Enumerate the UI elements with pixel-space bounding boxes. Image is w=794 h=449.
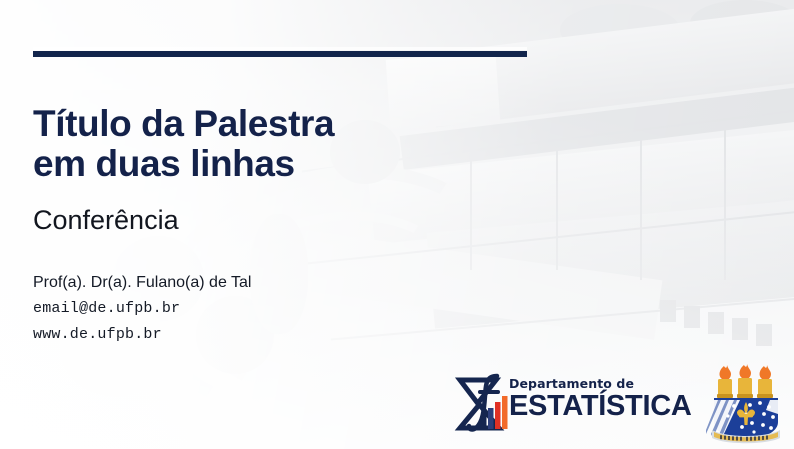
slide-content: Título da Palestra em duas linhas Confer… [0,0,794,449]
slide-subtitle: Conferência [33,205,179,236]
accent-rule-highlight [33,47,527,50]
speaker-email[interactable]: email@de.ufpb.br [33,300,180,317]
title-line-1: Título da Palestra [33,103,334,144]
page-title: Título da Palestra em duas linhas [33,104,553,183]
accent-rule [33,51,527,57]
presentation-slide: Título da Palestra em duas linhas Confer… [0,0,794,449]
department-logo-wordmark: Departamento de ESTATÍSTICA [509,376,692,421]
department-logo-top-text: Departamento de [509,376,692,391]
title-line-2: em duas linhas [33,144,553,184]
department-logo-main-text: ESTATÍSTICA [509,392,692,421]
ufpb-coat-of-arms-icon [706,362,786,446]
department-logo: Departamento de ESTATÍSTICA [452,368,692,442]
speaker-name: Prof(a). Dr(a). Fulano(a) de Tal [33,274,251,292]
department-website[interactable]: www.de.ufpb.br [33,326,162,343]
